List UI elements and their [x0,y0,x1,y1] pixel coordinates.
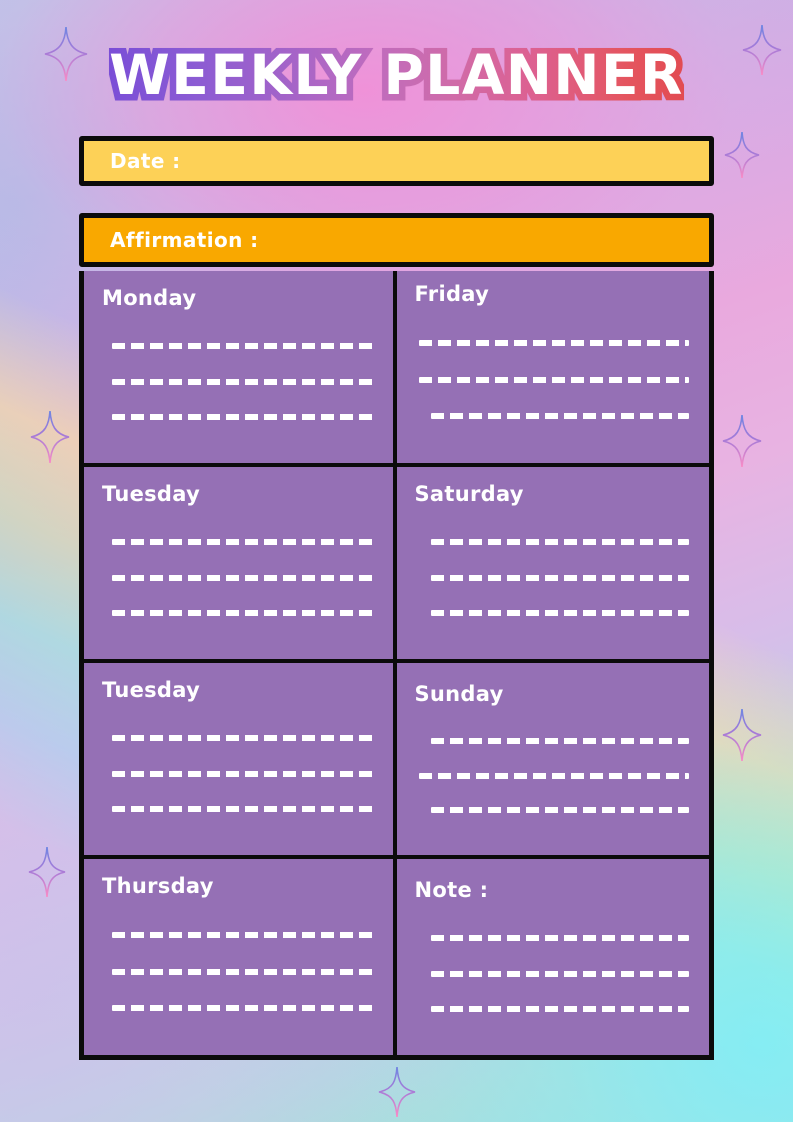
day-cell-monday[interactable]: Monday [84,271,397,467]
writing-line[interactable] [431,610,690,616]
planner-body: Date : Affirmation : Monday Friday [79,136,714,1060]
day-label: Sunday [415,683,694,706]
date-field-row[interactable]: Date : [79,136,714,186]
note-label: Note : [415,879,694,902]
writing-line[interactable] [112,343,373,349]
writing-line[interactable] [431,971,690,977]
writing-line[interactable] [112,539,373,545]
day-label: Tuesday [102,679,377,702]
writing-line[interactable] [112,932,373,938]
day-grid: Monday Friday Tuesday [79,271,714,1060]
writing-lines[interactable] [415,310,694,453]
writing-line[interactable] [419,773,690,779]
day-cell-tuesday[interactable]: Tuesday [84,467,397,663]
writing-line[interactable] [112,806,373,812]
day-label: Thursday [102,875,377,898]
page-title-container: WEEKLY PLANNER [0,34,793,116]
writing-line[interactable] [112,969,373,975]
writing-line[interactable] [419,340,690,346]
day-cell-tuesday-duplicate[interactable]: Tuesday [84,663,397,859]
writing-line[interactable] [431,1006,690,1012]
writing-line[interactable] [112,1005,373,1011]
writing-lines[interactable] [415,906,694,1045]
planner-page: WEEKLY PLANNER Date : Affirmation : Mond… [0,0,793,1122]
writing-line[interactable] [431,935,690,941]
writing-lines[interactable] [102,314,377,453]
writing-line[interactable] [431,413,690,419]
affirmation-label: Affirmation : [110,228,259,252]
note-cell[interactable]: Note : [397,859,710,1055]
writing-lines[interactable] [102,902,377,1045]
date-label: Date : [110,149,181,173]
writing-line[interactable] [112,610,373,616]
page-title: WEEKLY PLANNER [109,48,684,103]
four-point-sparkle-icon [28,846,66,898]
writing-line[interactable] [112,735,373,741]
writing-line[interactable] [112,771,373,777]
day-label: Friday [415,283,694,306]
writing-line[interactable] [431,738,690,744]
writing-line[interactable] [431,539,690,545]
day-label: Tuesday [102,483,377,506]
writing-lines[interactable] [415,510,694,649]
day-label: Monday [102,287,377,310]
writing-line[interactable] [419,377,690,383]
four-point-sparkle-icon [722,414,762,468]
writing-line[interactable] [112,414,373,420]
four-point-sparkle-icon [722,708,762,762]
four-point-sparkle-icon [30,410,70,464]
day-cell-friday[interactable]: Friday [397,271,710,467]
writing-lines[interactable] [102,706,377,845]
writing-line[interactable] [431,575,690,581]
writing-line[interactable] [431,807,690,813]
writing-line[interactable] [112,379,373,385]
four-point-sparkle-icon [724,131,760,179]
writing-lines[interactable] [102,510,377,649]
writing-lines[interactable] [415,710,694,845]
day-cell-sunday[interactable]: Sunday [397,663,710,859]
day-cell-saturday[interactable]: Saturday [397,467,710,663]
affirmation-field-row[interactable]: Affirmation : [79,213,714,267]
day-label: Saturday [415,483,694,506]
writing-line[interactable] [112,575,373,581]
day-cell-thursday[interactable]: Thursday [84,859,397,1055]
four-point-sparkle-icon [378,1066,416,1118]
